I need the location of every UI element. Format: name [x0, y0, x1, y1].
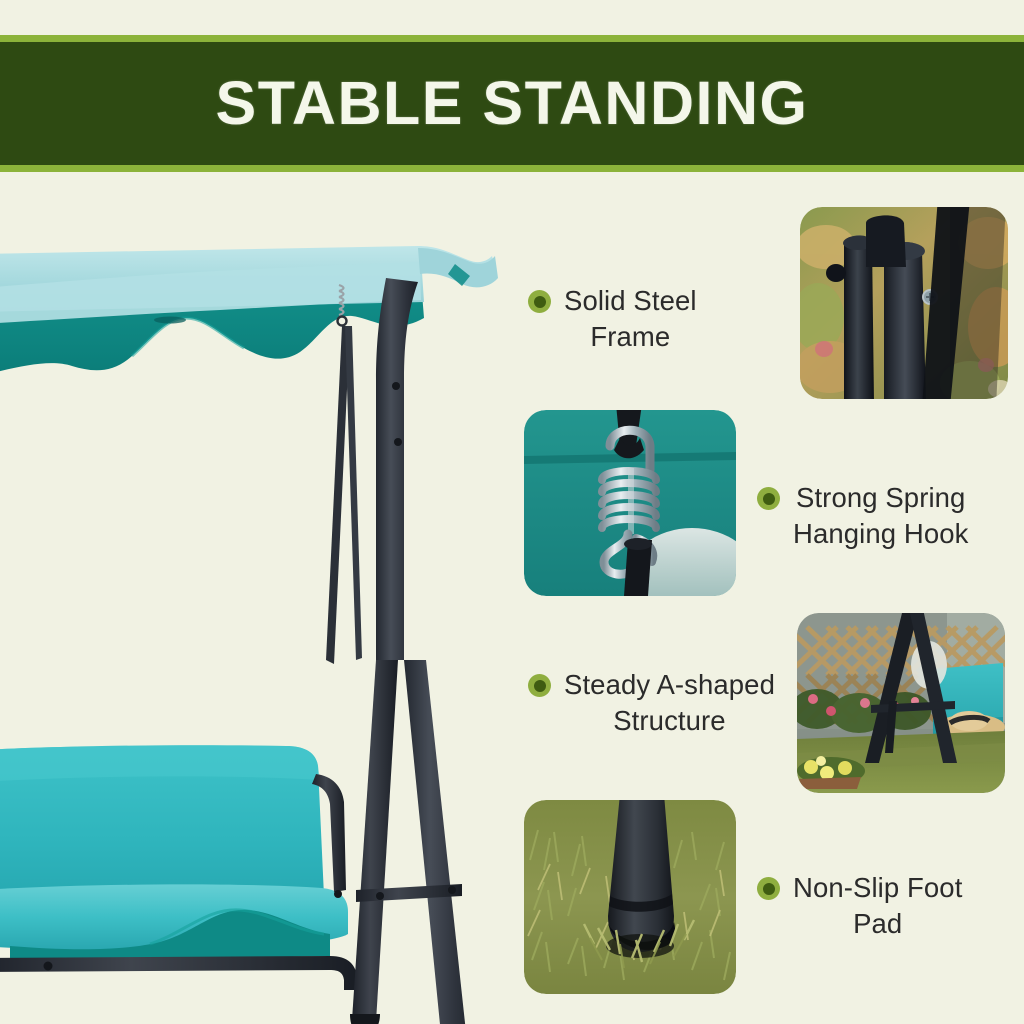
feature-non-slip-foot-pad: Non-Slip Foot Pad	[757, 870, 962, 943]
header-banner: STABLE STANDING	[0, 35, 1024, 172]
spring-hook-image	[524, 410, 736, 596]
feature-text: Strong Spring Hanging Hook	[793, 480, 968, 553]
armrest-bolt	[334, 890, 342, 898]
steel-frame-closeup-photo	[800, 207, 1008, 399]
page-title: STABLE STANDING	[216, 73, 809, 134]
inset-wrapper-spring-hook	[524, 410, 736, 596]
feature-label-strong-spring-hanging-hook: Strong Spring Hanging Hook	[757, 480, 968, 553]
a-frame-garden-image	[797, 613, 1005, 793]
feature-text: Solid Steel Frame	[564, 283, 697, 356]
inset-wrapper-steel-frame	[800, 207, 1008, 399]
foot-pad-rear	[350, 1014, 380, 1024]
bullet-icon	[528, 674, 551, 697]
post-bolt-lower	[394, 438, 402, 446]
feature-steady-a-shaped-structure: Steady A-shaped Structure	[528, 667, 775, 740]
a-frame-garden-photo	[797, 613, 1005, 793]
inset-wrapper-foot-pad	[524, 800, 736, 994]
spring-hook-closeup-photo	[524, 410, 736, 596]
bullet-icon	[757, 877, 780, 900]
steel-frame-image	[800, 207, 1008, 399]
bullet-icon	[757, 487, 780, 510]
feature-label-steady-a-shaped-structure: Steady A-shaped Structure	[528, 667, 775, 740]
inset-wrapper-a-frame	[797, 613, 1005, 793]
bullet-icon	[528, 290, 551, 313]
feature-text: Non-Slip Foot Pad	[793, 870, 962, 943]
product-photo-swing-chair	[0, 190, 512, 1024]
post-bolt-upper	[392, 382, 400, 390]
feature-solid-steel-frame: Solid Steel Frame	[528, 283, 697, 356]
feature-label-solid-steel-frame: Solid Steel Frame	[528, 283, 697, 356]
frame-bolt-left	[44, 962, 53, 971]
foot-pad-grass-photo	[524, 800, 736, 994]
feature-label-non-slip-foot-pad: Non-Slip Foot Pad	[757, 870, 962, 943]
foot-pad-grass-image	[524, 800, 736, 994]
brace-bolt-left	[376, 892, 384, 900]
swing-chair-illustration	[0, 190, 512, 1024]
feature-text: Steady A-shaped Structure	[564, 667, 775, 740]
feature-strong-spring-hanging-hook: Strong Spring Hanging Hook	[757, 480, 968, 553]
brace-bolt-right	[448, 886, 456, 894]
infographic-page: STABLE STANDING	[0, 0, 1024, 1024]
canopy-eyelet	[154, 317, 186, 324]
